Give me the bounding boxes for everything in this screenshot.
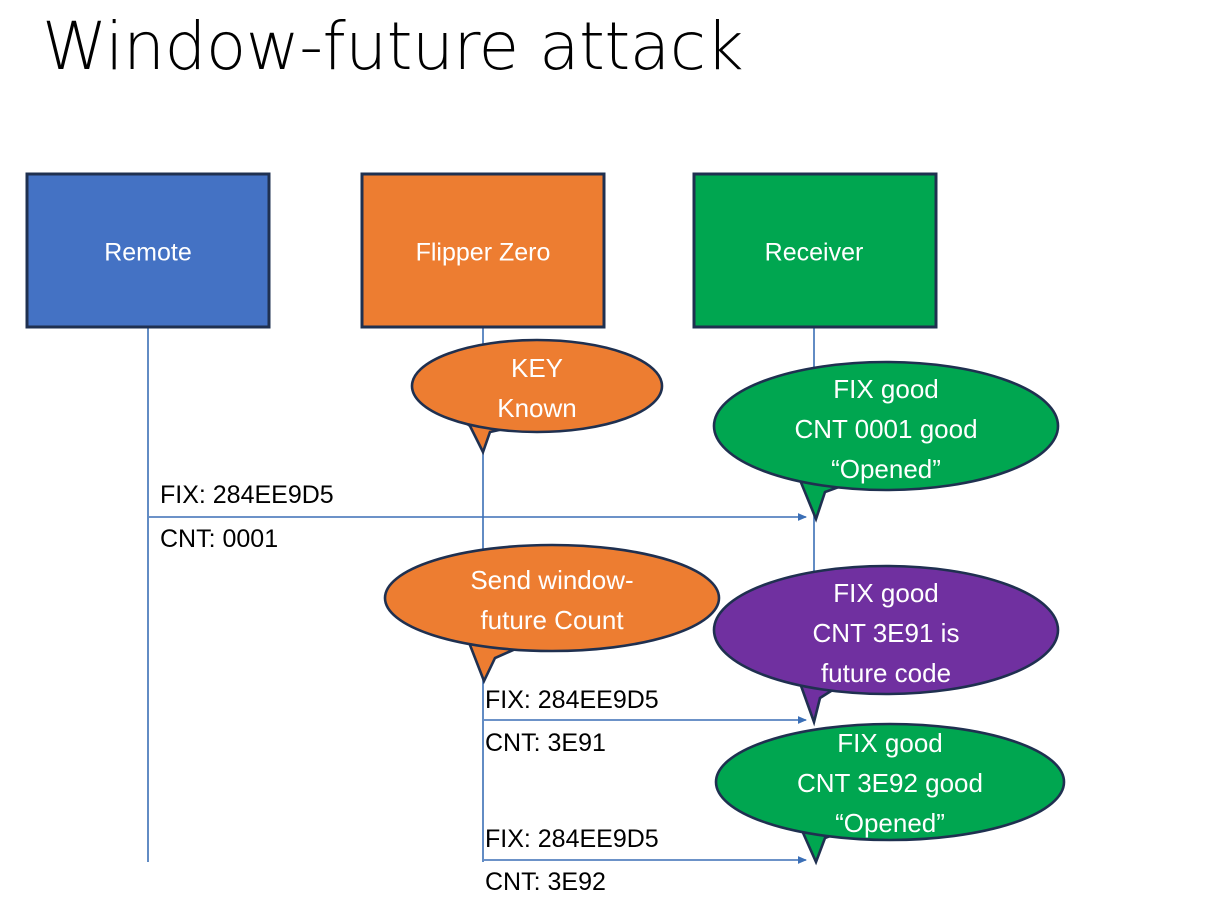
slide-canvas: Window-future attack Remote Flipper Zero… [0, 0, 1216, 898]
actor-box-receiver[interactable]: Receiver [694, 174, 936, 327]
callout-receiver-future-code-line-1: FIX good [833, 578, 939, 608]
callout-send-window-future[interactable]: Send window- future Count [385, 545, 719, 681]
message-3[interactable]: FIX: 284EE9D5 CNT: 3E92 [484, 825, 806, 896]
callout-key-known-line-1: KEY [511, 353, 563, 383]
callout-key-known[interactable]: KEY Known [412, 340, 662, 452]
message-1-cnt-label: CNT: 0001 [160, 525, 278, 553]
callout-receiver-ack-2-line-1: FIX good [837, 728, 943, 758]
message-2-cnt-label: CNT: 3E91 [485, 729, 606, 757]
actor-label-flipper: Flipper Zero [416, 239, 551, 267]
callout-send-window-future-body [385, 545, 719, 651]
callout-receiver-ack-1-line-3: “Opened” [831, 454, 941, 484]
actor-label-receiver: Receiver [765, 239, 864, 267]
callout-receiver-ack-2[interactable]: FIX good CNT 3E92 good “Opened” [716, 724, 1064, 862]
actor-box-remote[interactable]: Remote [27, 174, 269, 327]
message-3-cnt-label: CNT: 3E92 [485, 868, 606, 896]
actor-label-remote: Remote [104, 239, 192, 267]
callout-send-window-future-line-2: future Count [480, 605, 624, 635]
callout-receiver-ack-2-line-3: “Opened” [835, 808, 945, 838]
callout-receiver-future-code-line-2: CNT 3E91 is [813, 618, 960, 648]
message-1[interactable]: FIX: 284EE9D5 CNT: 0001 [149, 481, 806, 553]
message-1-fix-label: FIX: 284EE9D5 [160, 481, 334, 509]
callout-send-window-future-line-1: Send window- [470, 565, 633, 595]
message-3-fix-label: FIX: 284EE9D5 [485, 825, 659, 853]
message-2-fix-label: FIX: 284EE9D5 [485, 686, 659, 714]
callout-receiver-future-code[interactable]: FIX good CNT 3E91 is future code [714, 566, 1058, 722]
callout-receiver-ack-2-line-2: CNT 3E92 good [797, 768, 983, 798]
actor-box-flipper[interactable]: Flipper Zero [362, 174, 604, 327]
callout-receiver-ack-1-line-1: FIX good [833, 374, 939, 404]
callout-receiver-ack-1-line-2: CNT 0001 good [794, 414, 977, 444]
callout-key-known-line-2: Known [497, 393, 577, 423]
callout-receiver-future-code-line-3: future code [821, 658, 951, 688]
sequence-diagram: Remote Flipper Zero Receiver FIX: 284EE9… [0, 0, 1216, 898]
callout-receiver-ack-1[interactable]: FIX good CNT 0001 good “Opened” [714, 362, 1058, 519]
